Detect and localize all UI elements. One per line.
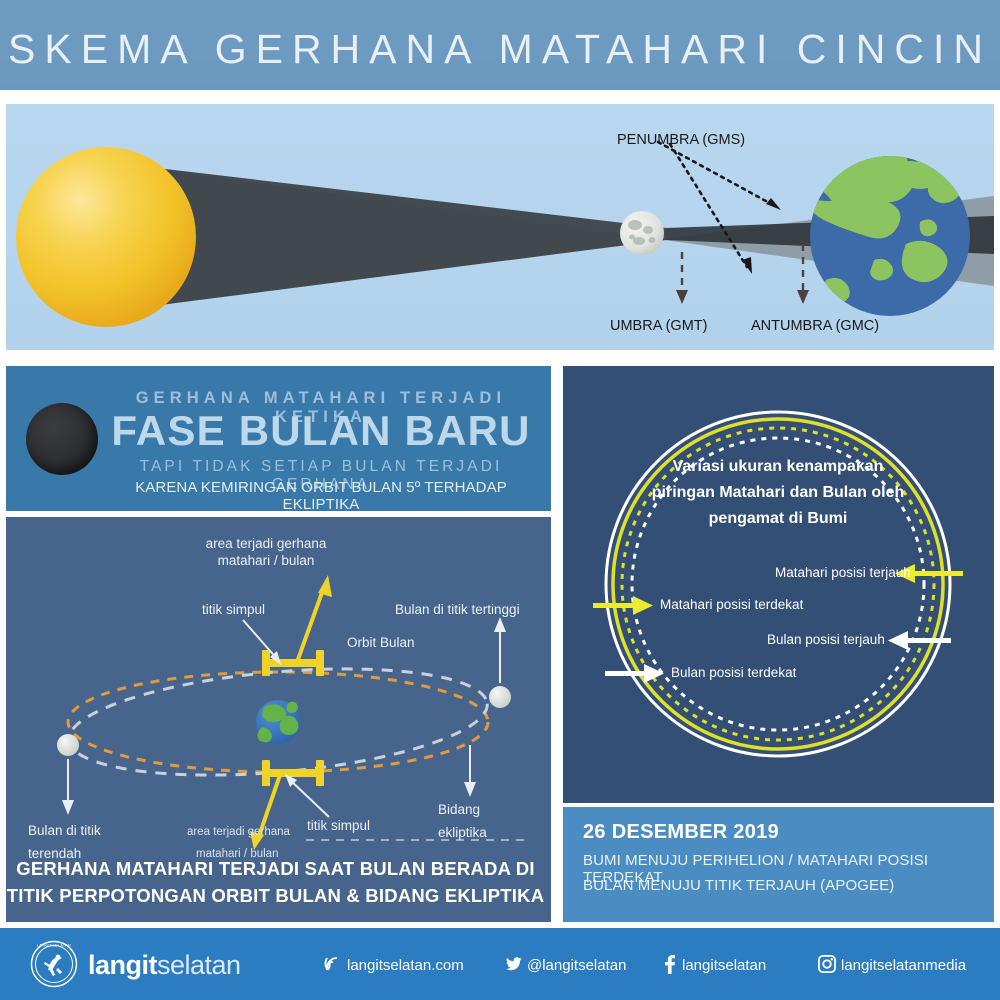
page-title: SKEMA GERHANA MATAHARI CINCIN [0,26,1000,73]
penumbra-arrow-2 [742,257,752,274]
moon-highest-arrowhead [494,617,506,632]
banner-headline: FASE BULAN BARU [101,408,541,454]
eclipse-geometry-diagram: PENUMBRA (GMS) [6,104,994,350]
new-moon-banner: GERHANA MATAHARI TERJADI KETIKA FASE BUL… [6,366,551,511]
penumbra-label: PENUMBRA (GMS) [617,132,745,148]
svg-text:LANGITSELATAN: LANGITSELATAN [37,944,71,948]
earth-mini [256,700,300,744]
page-header: SKEMA GERHANA MATAHARI CINCIN [0,0,1000,90]
social-link-website[interactable]: langitselatan.com [347,957,464,974]
orbit-caption-line2: TITIK PERPOTONGAN ORBIT BULAN & BIDANG E… [0,882,551,909]
moon-farthest-label: Bulan posisi terjauh [767,632,885,647]
earth-globe [806,146,976,316]
ring-title-line1: Variasi ukuran kenampakan [618,454,938,480]
eclipse-shadow-svg [6,104,994,350]
social-link-twitter[interactable]: @langitselatan [527,957,626,974]
moon-lowest-label-l1: Bulan di titik [28,822,101,839]
eclipse-area-top-line1: area terjadi gerhana [171,535,361,552]
social-link-facebook[interactable]: langitselatan [682,957,766,974]
antumbra-arrow [797,290,809,304]
brand-wordmark: langitselatan [88,950,241,981]
social-link-instagram[interactable]: langitselatanmedia [841,957,966,974]
ecliptic-plane-arrowhead [464,782,476,797]
instagram-icon[interactable] [818,955,836,973]
sun-sphere [16,147,196,327]
langitselatan-seal-logo: LANGITSELATAN [30,940,78,988]
rss-icon[interactable] [324,955,342,973]
apparent-size-diagram: Variasi ukuran kenampakan piringan Matah… [563,366,994,803]
ring-panel-title: Variasi ukuran kenampakan piringan Matah… [618,454,938,532]
brand-bold: langit [88,950,157,980]
node-top-leader [243,620,278,660]
eclipse-area-bottom-line1: area terjadi gerhana [187,825,290,840]
event-note-line2: BULAN MENUJU TITIK TERJAUH (APOGEE) [583,877,894,894]
page-footer: LANGITSELATAN langitselatan langitselata… [0,928,1000,1000]
umbra-arrow [676,290,688,304]
sun-nearest-label: Matahari posisi terdekat [660,597,803,612]
node-top-label: titik simpul [202,601,265,618]
moon-lowest [57,734,79,756]
moon-sphere [620,211,664,255]
infographic-page: SKEMA GERHANA MATAHARI CINCIN [0,0,1000,1000]
umbra-label: UMBRA (GMT) [610,318,707,334]
ring-title-line2: piringan Matahari dan Bulan oleh [618,480,938,506]
moon-highest [489,686,511,708]
event-date-panel: 26 DESEMBER 2019 BUMI MENUJU PERIHELION … [563,807,994,922]
facebook-icon[interactable] [663,955,675,974]
orbit-caption: GERHANA MATAHARI TERJADI SAAT BULAN BERA… [0,855,551,909]
banner-note: KARENA KEMIRINGAN ORBIT BULAN 5º TERHADA… [101,479,541,513]
ring-title-line3: pengamat di Bumi [618,506,938,532]
moon-orbit-label: Orbit Bulan [347,634,415,651]
eclipse-area-top-line2: matahari / bulan [171,552,361,569]
ecliptic-plane-label-l2: ekliptika [438,824,487,841]
node-bottom-label: titik simpul [307,817,370,834]
moon-highest-label: Bulan di titik tertinggi [395,601,520,618]
brand-light: selatan [157,950,241,980]
new-moon-icon [26,403,98,475]
ecliptic-plane-label-l1: Bidang [438,801,480,818]
antumbra-label: ANTUMBRA (GMC) [751,318,879,334]
sun-farthest-label: Matahari posisi terjauh [775,565,911,580]
moon-lowest-arrowhead [62,800,74,815]
moon-nearest-label: Bulan posisi terdekat [671,665,796,680]
twitter-icon[interactable] [504,955,523,973]
orbit-caption-line1: GERHANA MATAHARI TERJADI SAAT BULAN BERA… [0,855,551,882]
penumbra-arrow-1 [766,198,781,210]
event-date: 26 DESEMBER 2019 [583,821,779,844]
ring-svg [563,366,994,803]
